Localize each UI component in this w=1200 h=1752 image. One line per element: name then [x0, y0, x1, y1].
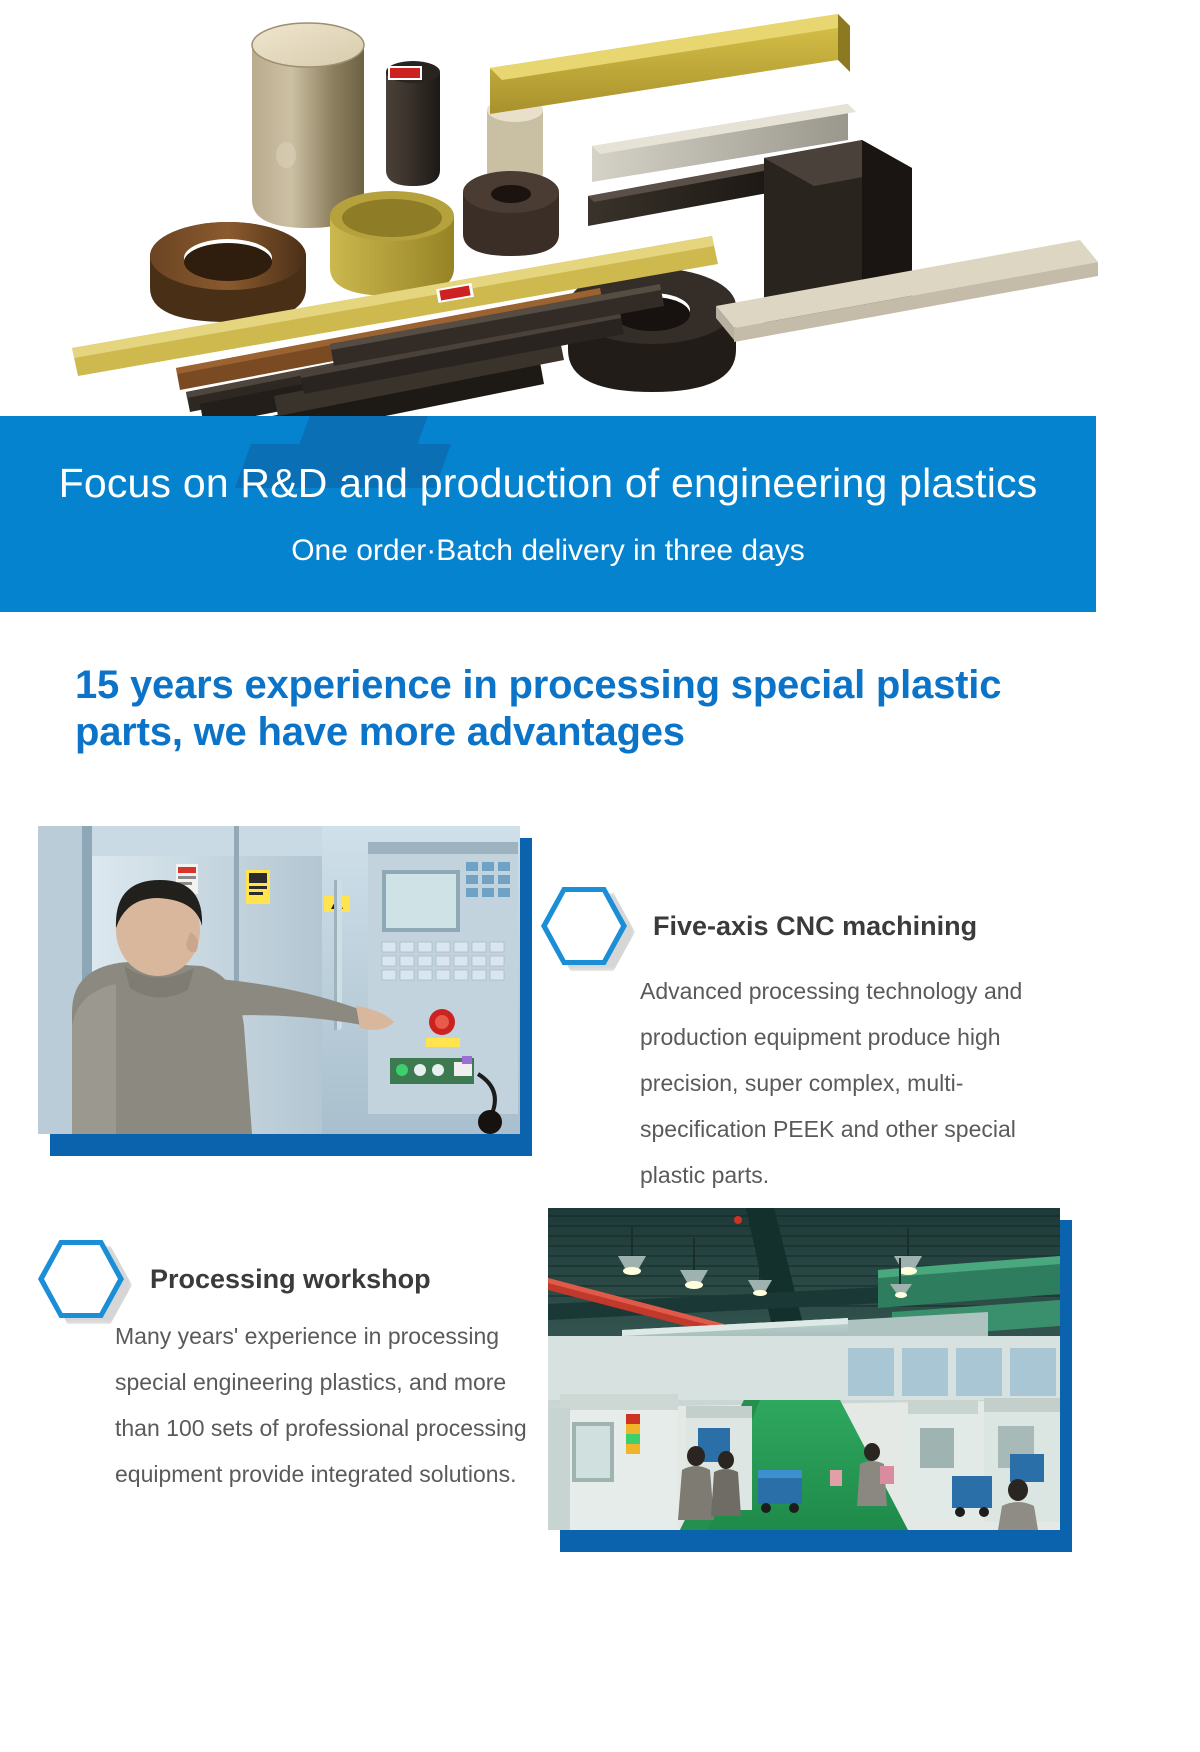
feature-photo-cnc-machining [38, 826, 520, 1144]
feature-02-header: 02 Processing workshop [38, 1240, 538, 1318]
feature-01-header: 01 Five-axis CNC machining [541, 887, 1061, 965]
feature-02-title: Processing workshop [150, 1264, 431, 1295]
feature-01-description: Advanced processing technology and produ… [640, 968, 1070, 1198]
hexagon-number: 01 [541, 887, 627, 965]
feature-01-title: Five-axis CNC machining [653, 911, 977, 942]
feature-photo-workshop [548, 1208, 1060, 1540]
banner-subtitle: One order·Batch delivery in three days [0, 534, 1096, 568]
photo-operator-at-cnc-panel [38, 826, 520, 1134]
blue-banner: Focus on R&D and production of engineeri… [0, 416, 1096, 612]
hexagon-number: 02 [38, 1240, 124, 1318]
hexagon-badge-01: 01 [541, 887, 627, 965]
hexagon-badge-02: 02 [38, 1240, 124, 1318]
hero-product-photo [0, 0, 1200, 418]
cnc-operator-illustration [38, 826, 520, 1134]
photo-workshop-interior [548, 1208, 1060, 1530]
feature-02-description: Many years' experience in processing spe… [115, 1313, 535, 1497]
hero-product-illustration [0, 0, 1200, 418]
product-feature-page: Focus on R&D and production of engineeri… [0, 0, 1200, 1752]
workshop-illustration [548, 1208, 1060, 1530]
page-title: 15 years experience in processing specia… [75, 662, 1065, 756]
banner-title: Focus on R&D and production of engineeri… [0, 460, 1096, 507]
